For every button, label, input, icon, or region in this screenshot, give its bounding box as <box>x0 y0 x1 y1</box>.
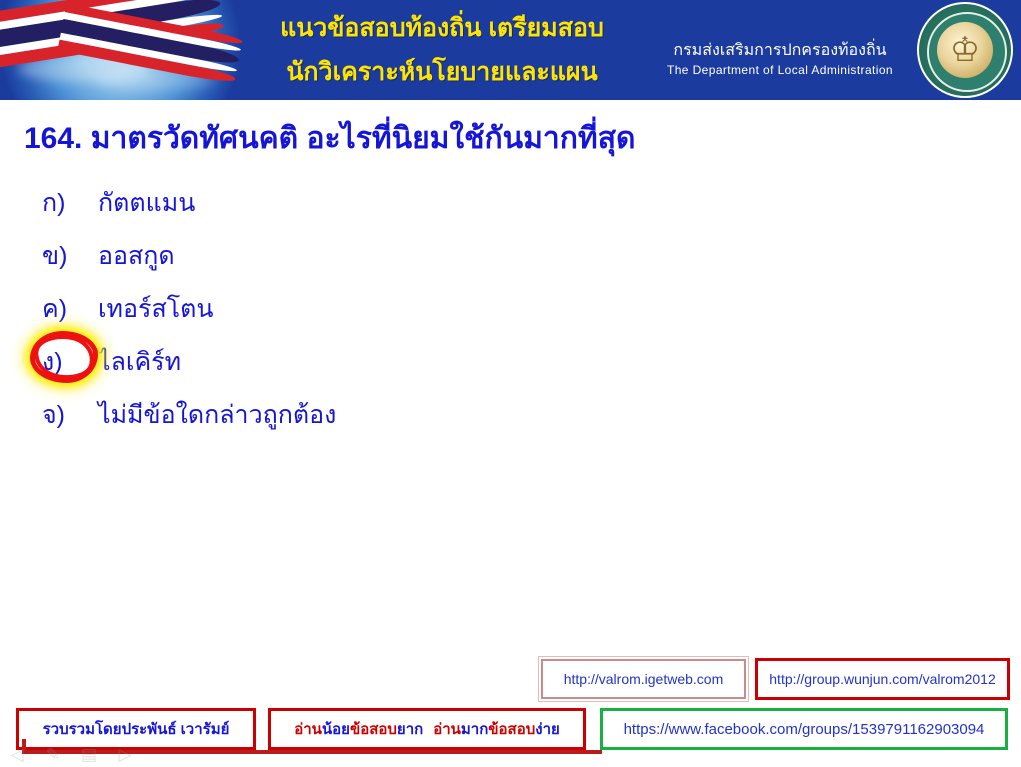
choice-text-b: ออสกูด <box>98 236 175 276</box>
presenter-toolbar[interactable]: ◁ ✎ ▤ ▷ <box>0 742 210 767</box>
choice-text-e: ไม่มีข้อใดกล่าวถูกต้อง <box>98 395 336 435</box>
department-name-english: The Department of Local Administration <box>650 62 910 78</box>
choice-text-a: กัตตแมน <box>98 183 195 223</box>
slogan-segment-3: ข้อสอบ <box>350 721 397 738</box>
header-banner: แนวข้อสอบท้องถิ่น เตรียมสอบ นักวิเคราะห์… <box>0 0 1021 100</box>
website-url-text: http://valrom.igetweb.com <box>564 671 724 687</box>
slogan-segment-6: มาก <box>461 721 488 738</box>
author-credit-text: รวบรวมโดยประพันธ์ เวารัมย์ <box>43 717 230 741</box>
choice-option-b[interactable]: ข) ออสกูด <box>42 236 742 289</box>
department-emblem-logo: ♔ <box>917 2 1013 98</box>
choice-letter-e: จ) <box>42 395 98 435</box>
banner-title: แนวข้อสอบท้องถิ่น เตรียมสอบ นักวิเคราะห์… <box>232 6 652 94</box>
banner-title-line1: แนวข้อสอบท้องถิ่น เตรียมสอบ <box>232 6 652 50</box>
question-text: 164. มาตรวัดทัศนคติ อะไรที่นิยมใช้กันมาก… <box>24 118 635 160</box>
slogan-box: อ่านน้อยข้อสอบยากอ่านมากข้อสอบง่าย <box>268 708 586 750</box>
slide-canvas: แนวข้อสอบท้องถิ่น เตรียมสอบ นักวิเคราะห์… <box>0 0 1021 767</box>
choice-option-e[interactable]: จ) ไม่มีข้อใดกล่าวถูกต้อง <box>42 395 742 448</box>
choice-letter-c: ค) <box>42 289 98 329</box>
choice-list: ก) กัตตแมน ข) ออสกูด ค) เทอร์สโตน ง) ไลเ… <box>42 183 742 448</box>
slogan-segment-8: ง่าย <box>535 721 560 738</box>
emblem-disc: ♔ <box>937 22 993 78</box>
menu-icon[interactable]: ▤ <box>78 746 100 764</box>
group-url-box[interactable]: http://group.wunjun.com/valrom2012 <box>755 658 1010 700</box>
choice-option-c[interactable]: ค) เทอร์สโตน <box>42 289 742 342</box>
facebook-group-url-text: https://www.facebook.com/groups/15397911… <box>624 721 985 738</box>
choice-letter-a: ก) <box>42 183 98 223</box>
choice-option-a[interactable]: ก) กัตตแมน <box>42 183 742 236</box>
website-url-box[interactable]: http://valrom.igetweb.com <box>541 659 746 699</box>
next-slide-icon[interactable]: ▷ <box>114 746 136 764</box>
choice-text-c: เทอร์สโตน <box>98 289 213 329</box>
banner-title-line2: นักวิเคราะห์นโยบายและแผน <box>232 50 652 94</box>
choice-text-d: ไลเคิร์ท <box>98 342 181 382</box>
facebook-group-box[interactable]: https://www.facebook.com/groups/15397911… <box>600 708 1008 750</box>
group-url-text: http://group.wunjun.com/valrom2012 <box>769 671 995 687</box>
slogan-segment-2: น้อย <box>322 721 350 738</box>
slogan-text: อ่านน้อยข้อสอบยากอ่านมากข้อสอบง่าย <box>294 717 560 741</box>
department-name-thai: กรมส่งเสริมการปกครองท้องถิ่น <box>650 40 910 62</box>
lion-emblem-icon: ♔ <box>937 22 993 78</box>
slogan-segment-1: อ่าน <box>294 721 322 738</box>
slogan-segment-7: ข้อสอบ <box>488 721 535 738</box>
department-name: กรมส่งเสริมการปกครองท้องถิ่น The Departm… <box>650 40 910 78</box>
pen-icon[interactable]: ✎ <box>42 746 64 764</box>
choice-letter-d: ง) <box>42 342 98 382</box>
choice-letter-b: ข) <box>42 236 98 276</box>
choice-option-d-correct-answer[interactable]: ง) ไลเคิร์ท <box>42 342 742 395</box>
previous-slide-icon[interactable]: ◁ <box>6 746 28 764</box>
slogan-segment-5: อ่าน <box>433 721 461 738</box>
slogan-segment-4: ยาก <box>397 721 423 738</box>
